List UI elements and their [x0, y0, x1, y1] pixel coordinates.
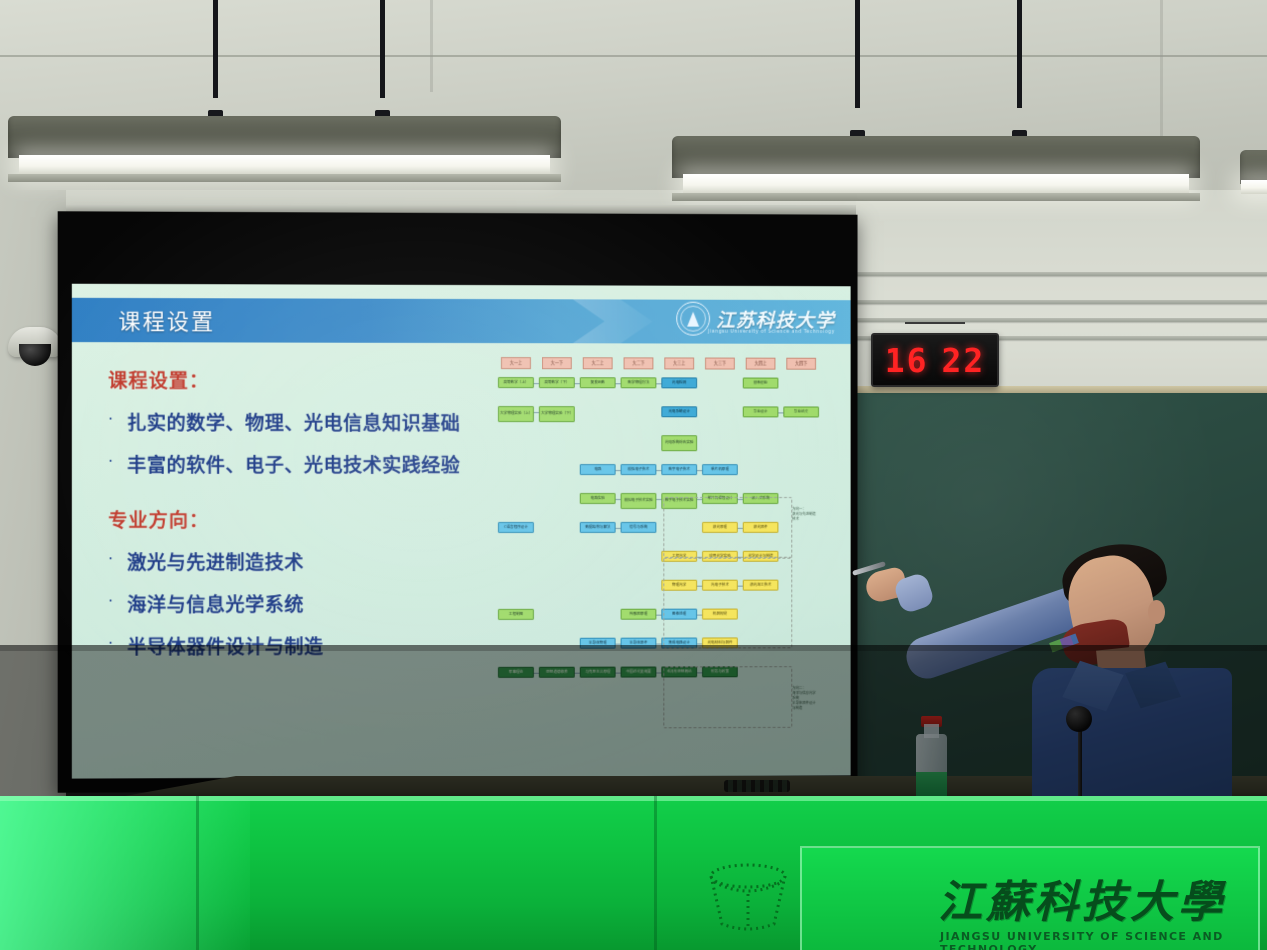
ship-sail-seal-icon — [676, 302, 710, 336]
flowchart-node: 毕业论文 — [783, 406, 819, 417]
fluorescent-tube — [1241, 180, 1267, 194]
flowchart-side-note: 方向一： 激光与先进制造 技术 — [792, 507, 839, 522]
flowchart-node: 大学物理实验（上） — [498, 406, 534, 422]
light-hood — [8, 116, 561, 158]
flowchart-node: 光电系统设计 — [661, 406, 697, 417]
projector-screen: 课程设置 江苏科技大学 Jiangsu University of Scienc… — [58, 211, 858, 792]
presenter-ear — [1148, 600, 1165, 624]
bullet-item: · 激光与先进制造技术 — [108, 548, 510, 575]
desk-cable — [724, 780, 790, 792]
light-hood — [672, 136, 1200, 178]
flowchart-connector — [575, 673, 580, 674]
left-wall — [0, 190, 66, 830]
flowchart-node: 马克思主义原理 — [580, 667, 616, 678]
bullet-text: 半导体器件设计与制造 — [127, 632, 323, 660]
flowchart-term-header: 大二下 — [624, 357, 654, 369]
lecture-hall-scene: 课程设置 江苏科技大学 Jiangsu University of Scienc… — [0, 0, 1267, 950]
flowchart-term-header: 大四上 — [746, 358, 776, 370]
flowchart-node: 模拟电子技术 — [621, 464, 657, 475]
flowchart-node: 数据结构与算法 — [580, 522, 616, 533]
bullet-item: · 丰富的软件、电子、光电技术实践经验 — [108, 451, 510, 478]
light-hood — [1240, 150, 1267, 184]
flowchart-group-box — [663, 557, 792, 649]
sail-shape-icon — [687, 311, 699, 326]
ceiling-beam — [430, 0, 433, 92]
bullet-text: 激光与先进制造技术 — [127, 548, 304, 575]
digital-wall-clock: 16 22 — [871, 333, 999, 387]
slide-title: 课程设置 — [118, 304, 215, 336]
flowchart-term-header: 大一上 — [501, 357, 531, 369]
flowchart-term-header: 大三上 — [664, 357, 694, 369]
flowchart-connector — [656, 383, 661, 384]
light-underside — [8, 174, 561, 182]
flowchart-connector — [616, 528, 621, 529]
flowchart-node: 毕业设计 — [743, 406, 779, 417]
chevron-decoration-icon — [573, 299, 653, 343]
presentation-slide: 课程设置 江苏科技大学 Jiangsu University of Scienc… — [72, 284, 851, 779]
light-cable — [1017, 0, 1022, 108]
perforated-cup-emblem-icon — [700, 860, 796, 936]
bullet-marker-icon: · — [108, 409, 113, 429]
flowchart-connector — [656, 499, 661, 500]
wall-rail — [856, 272, 1267, 276]
flowchart-side-note: 方向二： 海洋与信息光学 系统 半导体器件设计 与制造 — [792, 686, 839, 712]
bullet-marker-icon: · — [108, 633, 113, 653]
light-cable — [213, 0, 218, 98]
flowchart-node: C语言程序设计 — [498, 522, 534, 533]
flowchart-connector — [656, 470, 661, 471]
flowchart-node: 信号与系统 — [621, 522, 657, 533]
bullet-marker-icon: · — [108, 548, 113, 568]
curriculum-flowchart: 大一上大一下大二上大二下大三上大三下大四上大四下高等数学（上）高等数学（下）复变… — [494, 357, 844, 767]
flowchart-node: 数学物理方法 — [621, 377, 657, 388]
university-logo-en: Jiangsu University of Science and Techno… — [708, 330, 835, 335]
flowchart-connector — [534, 673, 539, 674]
flowchart-node: 电路 — [580, 464, 616, 475]
flowchart-connector — [616, 470, 621, 471]
flowchart-connector — [656, 644, 661, 645]
light-underside — [672, 193, 1200, 201]
ceiling-light-fixture-3 — [1240, 150, 1267, 210]
university-logo-cn: 江苏科技大学 — [716, 305, 835, 332]
flowchart-node: 模拟电子技术实验 — [621, 493, 657, 509]
flowchart-node: 复变函数 — [580, 377, 616, 388]
flowchart-node: 工程制图 — [498, 609, 534, 620]
flowchart-node: 半导体物理 — [580, 638, 616, 649]
flowchart-node: 数字电子技术 — [661, 464, 697, 475]
section-1-heading: 课程设置： — [108, 366, 510, 394]
fluorescent-tube — [19, 155, 550, 175]
podium-university-name-cn: 江蘇科技大學 — [938, 866, 1226, 930]
flowchart-connector — [697, 470, 702, 471]
flowchart-term-header: 大三下 — [705, 358, 735, 370]
flowchart-grid: 大一上大一下大二上大二下大三上大三下大四上大四下高等数学（上）高等数学（下）复变… — [494, 357, 844, 767]
fluorescent-tube — [683, 174, 1190, 194]
flowchart-node: 高等数学（下） — [539, 377, 575, 388]
flowchart-connector — [575, 383, 580, 384]
podium-light-glow — [0, 796, 250, 950]
flowchart-connector — [778, 412, 783, 413]
flowchart-term-header: 大一下 — [542, 357, 572, 369]
flowchart-connector — [616, 499, 621, 500]
flowchart-node: 军事理论 — [498, 667, 534, 678]
light-cable — [380, 0, 385, 98]
section-2-heading: 专业方向： — [108, 506, 510, 533]
flowchart-node: 思想道德修养 — [539, 667, 575, 678]
flowchart-node: 高等数学（上） — [498, 377, 534, 388]
flowchart-connector — [534, 412, 539, 413]
clock-hours: 16 — [885, 341, 929, 380]
podium-seam — [654, 796, 657, 950]
bullet-item: · 扎实的数学、物理、光电信息知识基础 — [108, 409, 510, 437]
flowchart-node: 光电检测 — [661, 377, 697, 388]
bullet-item: · 半导体器件设计与制造 — [108, 632, 510, 660]
bullet-text: 海洋与信息光学系统 — [127, 590, 304, 617]
flowchart-node: 半导体器件 — [621, 638, 657, 649]
flowchart-connector — [656, 615, 661, 616]
light-cable — [855, 0, 860, 108]
flowchart-connector — [616, 644, 621, 645]
flowchart-group-box — [663, 497, 792, 559]
flowchart-connector — [656, 672, 661, 673]
ceiling-light-fixture-1 — [8, 98, 561, 182]
bullet-text: 丰富的软件、电子、光电技术实践经验 — [127, 451, 460, 478]
flowchart-term-header: 大二上 — [583, 357, 613, 369]
bullet-marker-icon: · — [108, 451, 113, 471]
flowchart-node: 中国近代史纲要 — [621, 667, 657, 678]
clock-minutes: 22 — [942, 341, 986, 380]
flowchart-connector — [616, 383, 621, 384]
flowchart-term-header: 大四下 — [786, 358, 816, 370]
bullet-text: 扎实的数学、物理、光电信息知识基础 — [127, 409, 460, 436]
wall-rail — [856, 300, 1267, 304]
bullet-marker-icon: · — [108, 590, 113, 610]
podium-edge-highlight — [0, 796, 1267, 801]
slide-text-column: 课程设置： · 扎实的数学、物理、光电信息知识基础 · 丰富的软件、电子、光电技… — [108, 366, 510, 660]
flowchart-node: 创新创业 — [743, 378, 779, 389]
flowchart-connector — [616, 673, 621, 674]
flowchart-node: 单片机原理 — [702, 464, 738, 475]
podium-seam — [196, 796, 199, 950]
flowchart-node: 电路实验 — [580, 493, 616, 504]
ceiling-light-fixture-2 — [672, 108, 1200, 192]
flowchart-node: 传感器原理 — [621, 609, 657, 620]
flowchart-node: 大学物理实验（下） — [539, 406, 575, 422]
podium-university-name-en: JIANGSU UNIVERSITY OF SCIENCE AND TECHNO… — [940, 930, 1267, 950]
spacer — [108, 478, 510, 506]
flowchart-node: 光电系统综合实验 — [661, 435, 697, 451]
ceiling-seam — [0, 55, 1267, 57]
flowchart-group-box — [663, 666, 792, 728]
flowchart-connector — [534, 383, 539, 384]
desk-microphone — [1066, 706, 1092, 732]
bullet-item: · 海洋与信息光学系统 — [108, 590, 510, 618]
